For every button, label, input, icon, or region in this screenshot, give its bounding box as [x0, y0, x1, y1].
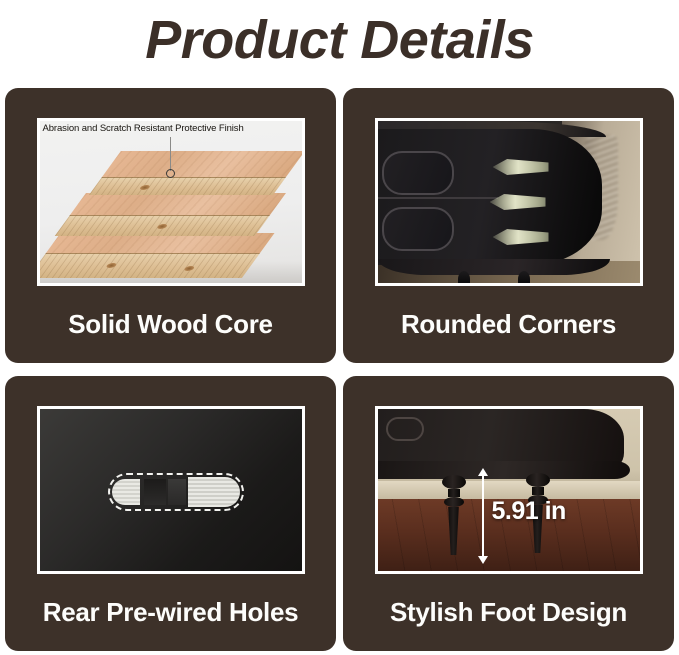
wood-knot-icon [105, 263, 118, 268]
cabinet-foot [518, 271, 530, 286]
board-top-face [70, 193, 286, 215]
wood-boards-illustration: Abrasion and Scratch Resistant Protectiv… [40, 121, 302, 283]
feature-card-solid-wood-core[interactable]: Abrasion and Scratch Resistant Protectiv… [5, 88, 336, 363]
drawer-seam [378, 197, 498, 199]
leg-taper [447, 507, 461, 555]
leg-knob-lower [444, 497, 464, 507]
leg-neck [448, 489, 460, 497]
leg-neck [532, 487, 544, 495]
feature-image-rounded-corners [375, 118, 643, 286]
wood-board-top [102, 151, 286, 183]
feature-card-rounded-corners[interactable]: Rounded Corners [343, 88, 674, 363]
dimension-arrow-icon [482, 475, 484, 557]
cabinet-apron [378, 461, 630, 479]
cabinet-body [378, 129, 602, 265]
board-edge-face [88, 177, 285, 195]
wood-board-bottom [46, 233, 260, 267]
feature-card-stylish-foot-design[interactable]: 5.91 in Stylish Foot Design [343, 376, 674, 651]
feature-image-rear-pre-wired-holes [37, 406, 305, 574]
dimension-label: 5.91 in [492, 497, 566, 526]
board-top-face [46, 233, 275, 253]
board-edge-face [54, 215, 269, 236]
wood-knot-icon [155, 224, 168, 229]
rounded-corner-illustration [378, 121, 640, 283]
feature-card-rear-pre-wired-holes[interactable]: Rear Pre-wired Holes [5, 376, 336, 651]
feature-caption-stylish-foot-design: Stylish Foot Design [390, 597, 627, 628]
cable-hole-outline [108, 473, 244, 511]
drawer-handle [386, 417, 424, 441]
board-edge-face [37, 253, 260, 278]
callout-target-dot-icon [166, 169, 175, 178]
wood-knot-icon [138, 185, 151, 190]
wood-knot-icon [182, 266, 195, 271]
leg-knob [442, 475, 466, 489]
product-details-grid: Abrasion and Scratch Resistant Protectiv… [5, 88, 674, 651]
wood-board-middle [70, 193, 270, 225]
feature-caption-wrap: Stylish Foot Design [343, 574, 674, 651]
turned-leg-front [442, 475, 466, 555]
foot-design-illustration: 5.91 in [378, 409, 640, 571]
feature-caption-solid-wood-core: Solid Wood Core [68, 309, 272, 340]
drawer-upper [382, 151, 454, 195]
feature-image-solid-wood-core: Abrasion and Scratch Resistant Protectiv… [37, 118, 305, 286]
page-title: Product Details [0, 0, 679, 80]
feature-caption-wrap: Solid Wood Core [5, 286, 336, 363]
feature-caption-rounded-corners: Rounded Corners [401, 309, 616, 340]
callout-leader-line [170, 137, 171, 171]
cabinet-foot [458, 271, 470, 286]
page-title-text: Product Details [145, 12, 534, 68]
rear-panel-illustration [40, 409, 302, 571]
callout-label: Abrasion and Scratch Resistant Protectiv… [43, 123, 244, 134]
board-top-face [102, 151, 305, 177]
drawer-lower [382, 207, 454, 251]
feature-caption-rear-pre-wired-holes: Rear Pre-wired Holes [43, 597, 299, 628]
feature-caption-wrap: Rounded Corners [343, 286, 674, 363]
leg-knob [526, 473, 550, 487]
feature-caption-wrap: Rear Pre-wired Holes [5, 574, 336, 651]
feature-image-stylish-foot-design: 5.91 in [375, 406, 643, 574]
cabinet-base [378, 259, 610, 275]
